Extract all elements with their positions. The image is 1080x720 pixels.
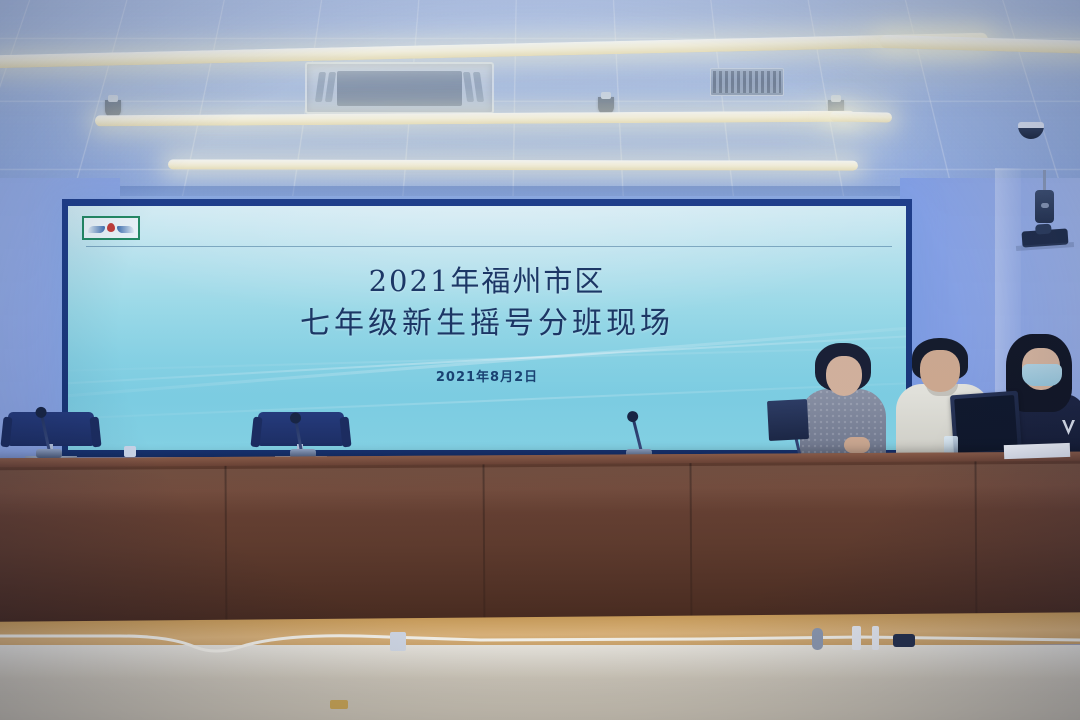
paper-cup	[124, 446, 136, 457]
slide-title-line1: 2021年福州市区	[68, 260, 906, 302]
floor-object	[812, 628, 823, 650]
floor-object	[893, 634, 915, 647]
ventilation-grille-icon	[710, 68, 784, 96]
floor-object	[852, 626, 861, 650]
ceiling	[0, 0, 1080, 205]
floor-object	[330, 700, 348, 709]
paper-documents	[1004, 443, 1070, 459]
ceiling-tile-texture	[0, 0, 1080, 205]
small-monitor	[767, 399, 809, 441]
school-emblem-icon	[82, 216, 140, 240]
podium-sheen	[0, 464, 1080, 517]
slide-divider-line	[86, 246, 892, 247]
hand	[844, 437, 870, 453]
person-woman-with-microphone	[800, 343, 886, 458]
face	[826, 356, 862, 396]
office-chair	[8, 412, 94, 446]
slide-title-line2: 七年级新生摇号分班现场	[68, 302, 906, 346]
fluorescent-strip-light	[168, 159, 858, 170]
fluorescent-strip-light	[830, 111, 892, 122]
floor-cable	[0, 628, 1080, 650]
wall-speaker-icon	[1035, 190, 1054, 223]
slide-title: 2021年福州市区 七年级新生摇号分班现场	[68, 260, 906, 346]
microphone-base	[36, 449, 62, 458]
floor-object	[872, 626, 879, 650]
conference-room-photo: 2021年福州市区 七年级新生摇号分班现场 2021年8月2日	[0, 0, 1080, 720]
floor-object	[390, 632, 406, 651]
face-mask-icon	[1022, 364, 1062, 386]
slide-date: 2021年8月2日	[68, 366, 906, 385]
floor-reflection	[0, 645, 1080, 679]
air-conditioner-vent-icon	[305, 62, 494, 114]
face	[920, 350, 960, 392]
speaker-mount-arm	[1043, 170, 1046, 192]
